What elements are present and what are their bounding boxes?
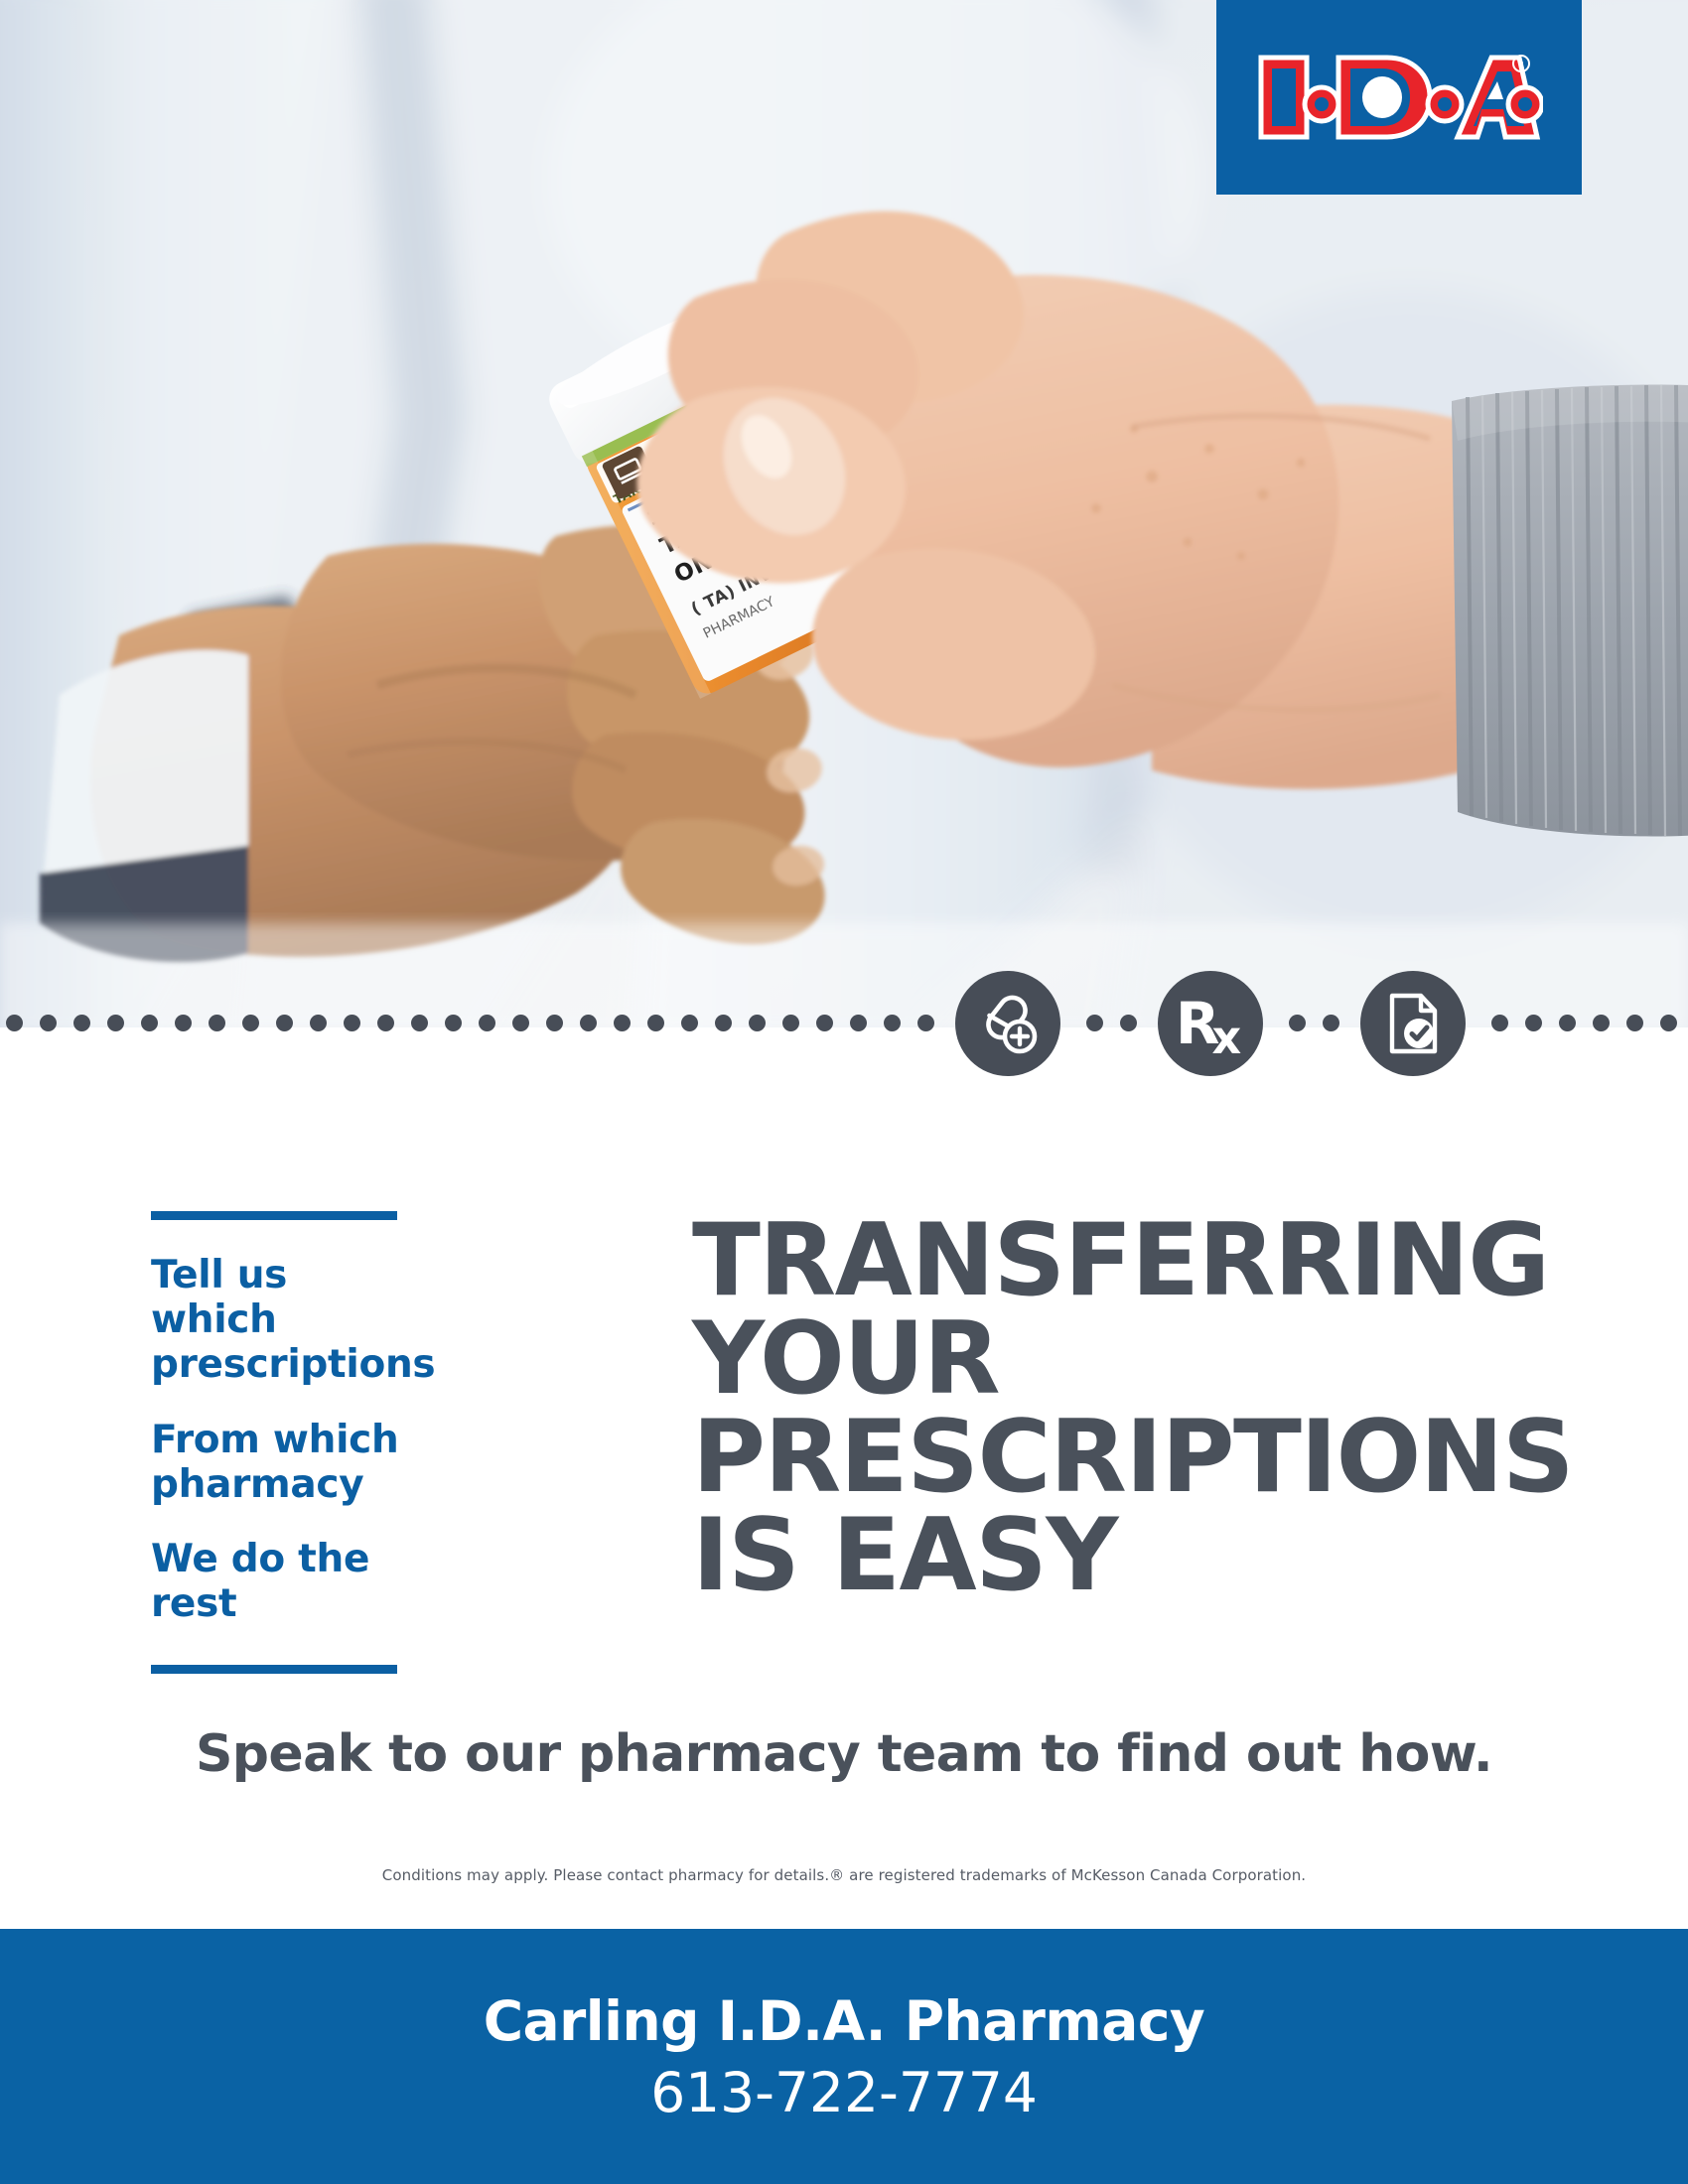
divider-dot [175,1015,192,1031]
divider-dot [411,1015,428,1031]
divider-dot [884,1015,901,1031]
pharmacy-phone[interactable]: 613-722-7774 [650,2061,1038,2124]
svg-text:R: R [1518,61,1524,70]
divider-dot [1289,1015,1306,1031]
transfer-prescriptions-poster: FOOD TAKE WITH 1867845 TAKE 1 TA ONLY 2 … [0,0,1688,2184]
rx-glyph: Rx [1176,995,1245,1052]
divider-dot [479,1015,495,1031]
headline-line-1: TRANSFERRING [692,1211,1586,1309]
divider-dot [749,1015,766,1031]
document-check-icon [1360,971,1466,1076]
steps-list: Tell us which prescriptions From which p… [151,1211,399,1674]
content-area: Tell us which prescriptions From which p… [0,1027,1688,1921]
step-item-1: Tell us which prescriptions [151,1253,399,1388]
divider-dot [1120,1015,1137,1031]
divider-dot [917,1015,934,1031]
disclaimer-text: Conditions may apply. Please contact pha… [0,1866,1688,1884]
pills-plus-glyph [976,992,1040,1055]
divider-dot [816,1015,833,1031]
divider-dot [445,1015,462,1031]
document-check-glyph [1383,992,1443,1055]
ida-logo-badge: R [1216,0,1582,195]
ida-logo-icon: R [1255,50,1543,145]
divider-dot [1559,1015,1576,1031]
headline-line-2: YOUR [692,1309,1586,1408]
divider-dot [614,1015,631,1031]
divider-dot [546,1015,563,1031]
divider-dot [715,1015,732,1031]
pharmacy-name: Carling I.D.A. Pharmacy [484,1989,1205,2053]
divider-dot [782,1015,799,1031]
divider-dot [6,1015,23,1031]
divider-dot [276,1015,293,1031]
page-title: TRANSFERRING YOUR PRESCRIPTIONS IS EASY [692,1211,1586,1604]
divider-dot [1323,1015,1339,1031]
divider-dot [377,1015,394,1031]
divider-dot [1525,1015,1542,1031]
footer-band: Carling I.D.A. Pharmacy 613-722-7774 [0,1929,1688,2184]
divider-dot [107,1015,124,1031]
divider-dot [850,1015,867,1031]
hero-photo: FOOD TAKE WITH 1867845 TAKE 1 TA ONLY 2 … [0,0,1688,1027]
dotted-divider-band: Rx [0,968,1688,1087]
headline-line-4: IS EASY [692,1506,1586,1604]
divider-dot [1491,1015,1508,1031]
headline-line-3: PRESCRIPTIONS [692,1408,1586,1506]
pills-plus-icon [955,971,1060,1076]
divider-dot [580,1015,597,1031]
divider-dot [73,1015,90,1031]
subhead-text: Speak to our pharmacy team to find out h… [0,1724,1688,1784]
divider-dot [681,1015,698,1031]
divider-dot [40,1015,57,1031]
divider-dot [310,1015,327,1031]
divider-dot [1660,1015,1677,1031]
divider-dot [512,1015,529,1031]
step-item-2: From which pharmacy [151,1418,399,1507]
rx-icon: Rx [1158,971,1263,1076]
divider-dot [242,1015,259,1031]
divider-dot [344,1015,360,1031]
divider-dot [209,1015,225,1031]
divider-dot [1086,1015,1103,1031]
steps-rule-top [151,1211,397,1220]
divider-dot [1626,1015,1643,1031]
step-item-3: We do the rest [151,1537,399,1626]
divider-dot [141,1015,158,1031]
divider-dot [1593,1015,1610,1031]
divider-dot [647,1015,664,1031]
steps-rule-bottom [151,1665,397,1674]
